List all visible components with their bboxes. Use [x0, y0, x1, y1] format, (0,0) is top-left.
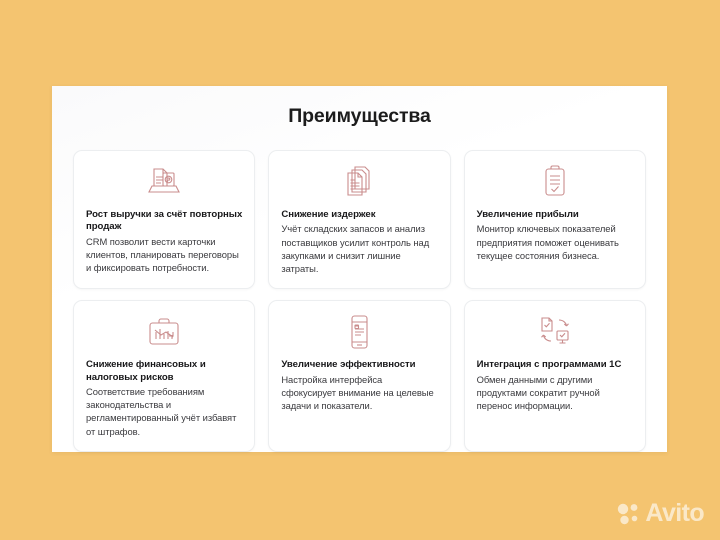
avito-dots-logo — [616, 502, 640, 526]
benefits-grid: Рост выручки за счёт повторных продаж CR… — [52, 128, 667, 452]
benefit-card-text: Обмен данными с другими продуктами сокра… — [477, 373, 633, 412]
clipboard-check-icon — [477, 162, 633, 202]
benefit-card-text: Соответствие требованиям законодательств… — [86, 385, 242, 438]
smartphone-interface-icon — [281, 312, 437, 352]
avito-watermark: Avito — [616, 501, 704, 526]
benefit-card[interactable]: Увеличение эффективности Настройка интер… — [268, 300, 450, 452]
laptop-document-ruble-icon — [86, 162, 242, 202]
benefit-card[interactable]: Увеличение прибыли Монитор ключевых пока… — [464, 150, 646, 289]
benefit-card-text: CRM позволит вести карточки клиентов, пл… — [86, 235, 242, 274]
stacked-documents-icon — [281, 162, 437, 202]
benefit-card-title: Интеграция с программами 1С — [477, 359, 633, 371]
page-title: Преимущества — [52, 86, 667, 128]
benefit-card[interactable]: Снижение издержек Учёт складских запасов… — [268, 150, 450, 289]
avito-watermark-text: Avito — [645, 501, 704, 526]
documents-sync-arrows-icon — [477, 312, 633, 352]
benefit-card-title: Снижение издержек — [281, 209, 437, 221]
benefit-card-title: Увеличение эффективности — [281, 359, 437, 371]
benefit-card[interactable]: Интеграция с программами 1С Обмен данным… — [464, 300, 646, 452]
benefit-card-text: Учёт складских запасов и анализ поставщи… — [281, 222, 437, 275]
benefit-card-text: Настройка интерфейса сфокусирует внимани… — [281, 373, 437, 412]
briefcase-declining-chart-icon — [86, 312, 242, 352]
benefit-card-title: Увеличение прибыли — [477, 209, 633, 221]
benefits-panel: Преимущества Рост выручки за счёт повтор… — [52, 86, 667, 452]
benefit-card-text: Монитор ключевых показателей предприятия… — [477, 222, 633, 261]
benefit-card-title: Снижение финансовых и налоговых рисков — [86, 359, 242, 384]
benefit-card[interactable]: Снижение финансовых и налоговых рисков С… — [73, 300, 255, 452]
benefit-card-title: Рост выручки за счёт повторных продаж — [86, 209, 242, 234]
benefit-card[interactable]: Рост выручки за счёт повторных продаж CR… — [73, 150, 255, 289]
